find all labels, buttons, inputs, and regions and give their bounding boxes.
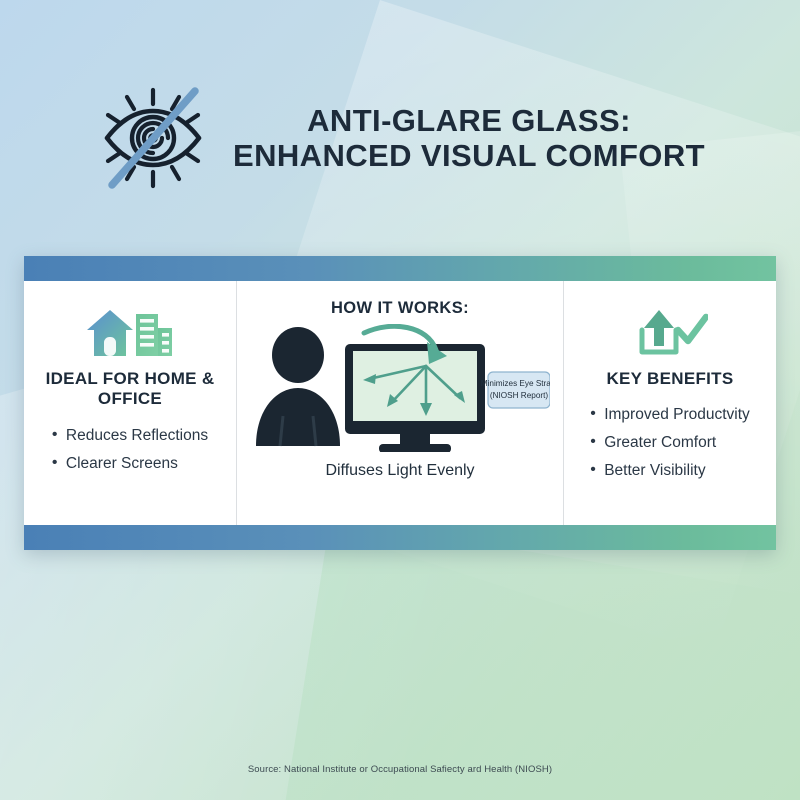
list-item: Clearer Screens [52,455,208,473]
title-line-1: ANTI-GLARE GLASS: [233,103,705,138]
infographic-canvas: ANTI-GLARE GLASS: ENHANCED VISUAL COMFOR… [0,0,800,800]
content-card: IDEAL FOR HOME & OFFICE Reduces Reflecti… [24,256,776,550]
no-glare-eye-icon [95,84,211,192]
middle-column-heading: HOW IT WORKS: [247,299,553,318]
person-silhouette [256,327,340,446]
callout-minimizes-eye-strain: Minimizes Eye Strain (NIOSH Report) [481,372,550,408]
column-ideal-for-home-office: IDEAL FOR HOME & OFFICE Reduces Reflecti… [24,281,236,525]
card-body: IDEAL FOR HOME & OFFICE Reduces Reflecti… [24,281,776,525]
list-item: Greater Comfort [590,434,750,452]
list-item: Reduces Reflections [52,427,208,445]
left-column-bullets: Reduces Reflections Clearer Screens [52,427,208,483]
column-how-it-works: HOW IT WORKS: [236,281,564,525]
list-item: Improved Productvity [590,406,750,424]
diffused-light-illustration: Minimizes Eye Strain (NIOSH Report) [247,324,553,452]
list-item: Better Visibility [590,462,750,480]
middle-column-caption: Diffuses Light Evenly [247,462,553,480]
header: ANTI-GLARE GLASS: ENHANCED VISUAL COMFOR… [0,78,800,198]
left-column-heading: IDEAL FOR HOME & OFFICE [36,369,224,410]
card-top-bar [24,256,776,281]
page-title: ANTI-GLARE GLASS: ENHANCED VISUAL COMFOR… [233,103,705,173]
home-and-office-icon [36,307,224,359]
callout-line-2: (NIOSH Report) [490,391,549,400]
upload-check-benefits-icon [574,307,766,359]
callout-line-1: Minimizes Eye Strain [481,379,550,388]
right-column-heading: KEY BENEFITS [574,369,766,389]
title-line-2: ENHANCED VISUAL COMFORT [233,138,705,173]
right-column-bullets: Improved Productvity Greater Comfort Bet… [590,406,750,490]
card-bottom-bar [24,525,776,550]
column-key-benefits: KEY BENEFITS Improved Productvity Greate… [564,281,776,525]
monitor [345,344,485,452]
source-attribution: Source: National Institute or Occupation… [0,764,800,775]
